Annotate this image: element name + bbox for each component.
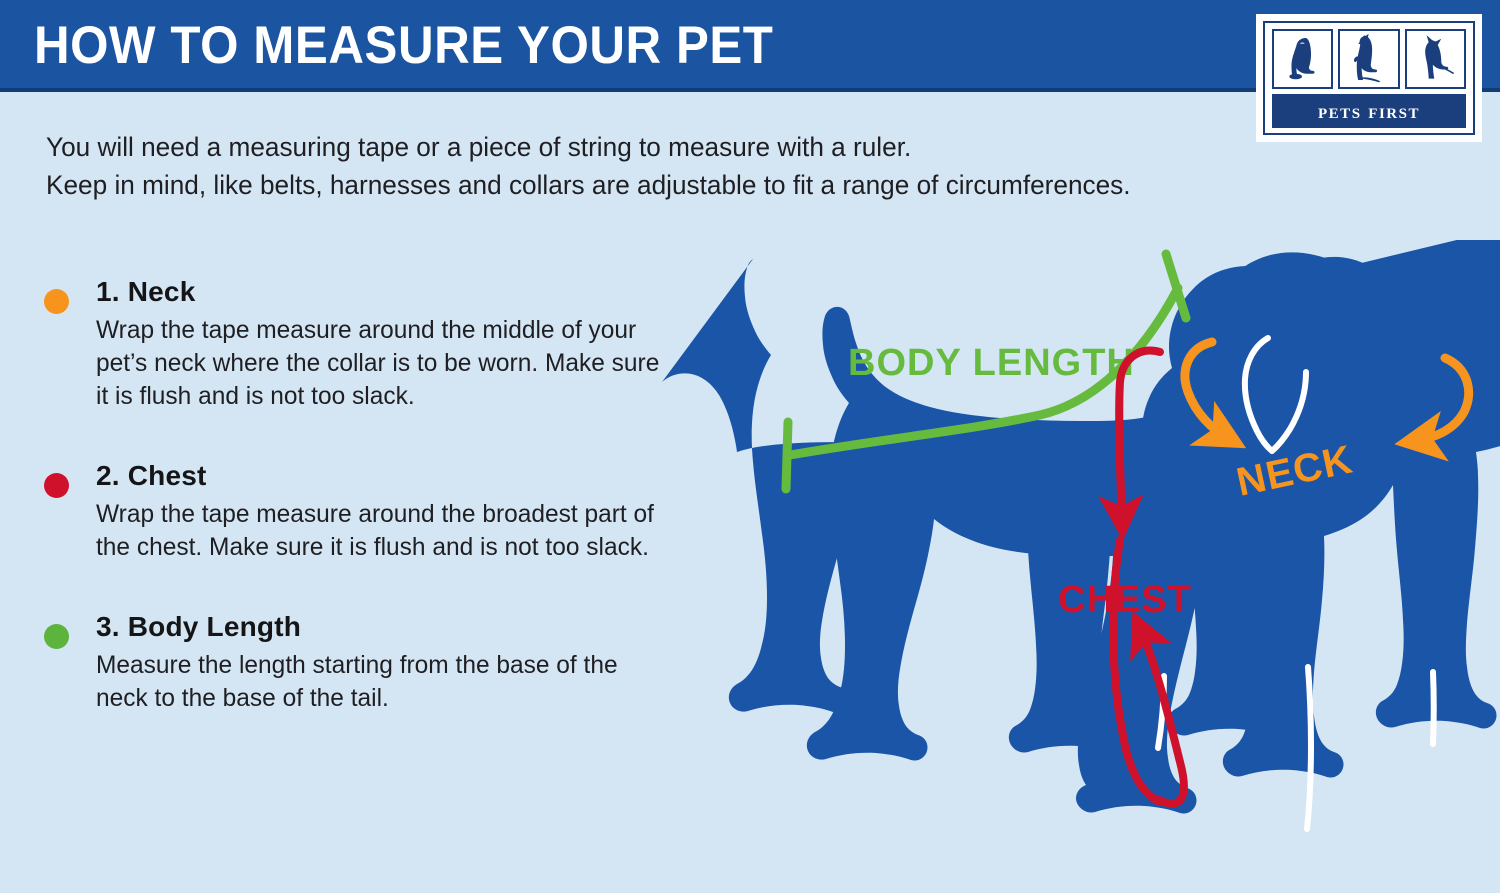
step-body: Wrap the tape measure around the middle … — [96, 314, 668, 413]
intro-line-1: You will need a measuring tape or a piec… — [46, 128, 1307, 166]
chest-label: CHEST — [1058, 579, 1192, 621]
page-title: HOW TO MEASURE YOUR PET — [34, 17, 773, 75]
intro-line-2: Keep in mind, like belts, harnesses and … — [46, 166, 1307, 204]
step-title: 2. Chest — [96, 459, 680, 493]
list-item: 3. Body Length Measure the length starti… — [40, 610, 680, 715]
measurement-steps-list: 1. Neck Wrap the tape measure around the… — [40, 275, 680, 761]
step-title: 3. Body Length — [96, 610, 680, 644]
body-length-label: BODY LENGTH — [848, 342, 1135, 384]
logo-frame: PETS FIRST — [1263, 21, 1475, 135]
brand-logo: PETS FIRST — [1256, 14, 1482, 142]
infographic-page: HOW TO MEASURE YOUR PET — [0, 0, 1500, 893]
intro-paragraph: You will need a measuring tape or a piec… — [46, 128, 1307, 204]
logo-wordmark: PETS FIRST — [1272, 94, 1466, 128]
list-item: 1. Neck Wrap the tape measure around the… — [40, 275, 680, 413]
bullet-body-length-icon — [44, 624, 69, 649]
dog-measurement-diagram: BODY LENGTH NECK CHEST — [640, 240, 1500, 893]
step-title: 1. Neck — [96, 275, 680, 309]
dog-sitting-icon — [1272, 29, 1333, 89]
list-item: 2. Chest Wrap the tape measure around th… — [40, 459, 680, 564]
logo-wordmark-text: PETS FIRST — [1318, 99, 1420, 124]
bullet-neck-icon — [44, 289, 69, 314]
logo-panel-row — [1272, 29, 1466, 89]
step-body: Wrap the tape measure around the broades… — [96, 498, 668, 564]
dog-begging-icon — [1338, 29, 1399, 89]
dog-shepherd-icon — [1405, 29, 1466, 89]
step-body: Measure the length starting from the bas… — [96, 649, 668, 715]
bullet-chest-icon — [44, 473, 69, 498]
